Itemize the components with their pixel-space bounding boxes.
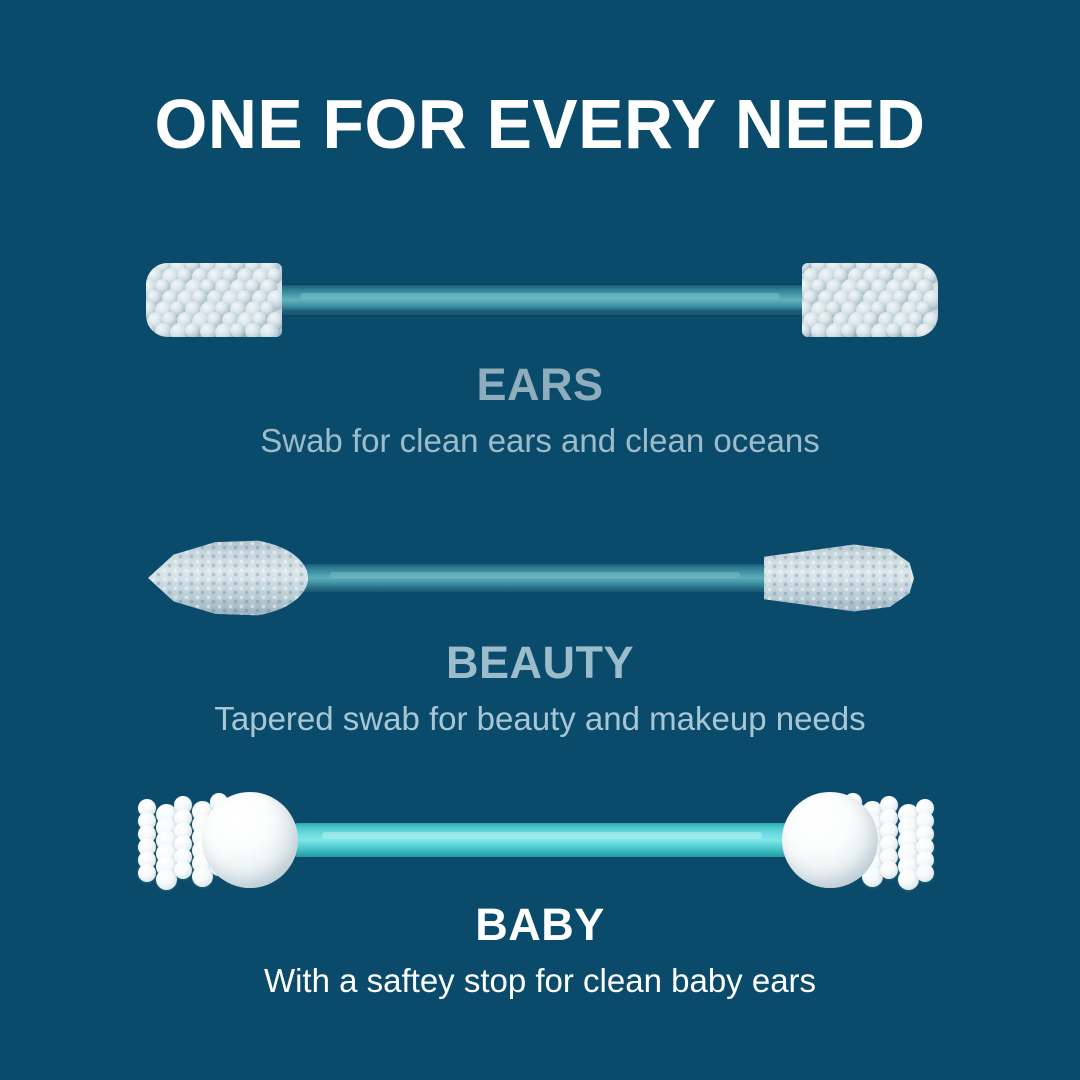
product-label-ears: EARS <box>0 362 1080 407</box>
safety-stop-left-icon <box>202 792 298 888</box>
nub-icon <box>916 323 935 337</box>
swab-illustration-ears <box>0 240 1080 360</box>
product-caption-beauty: Tapered swab for beauty and makeup needs <box>0 701 1080 737</box>
infographic-page: ONE FOR EVERY NEED EARS Swab for clean e… <box>0 0 1080 1080</box>
swab-tip-right-ears <box>802 263 938 337</box>
product-label-baby: BABY <box>0 902 1080 947</box>
swab-stick-ears <box>268 285 814 315</box>
nub-icon <box>841 323 856 337</box>
nub-icon <box>138 864 156 882</box>
product-caption-baby: With a saftey stop for clean baby ears <box>0 963 1080 999</box>
nub-icon <box>174 861 192 879</box>
nub-icon <box>260 323 279 337</box>
swab-stick-highlight-ears <box>300 293 780 299</box>
swab-tip-right-beauty-paddle <box>764 540 914 616</box>
nub-icon <box>185 323 200 337</box>
product-section-baby: BABY With a saftey stop for clean baby e… <box>0 780 1080 999</box>
dimple-texture-icon <box>148 539 308 617</box>
product-section-beauty: BEAUTY Tapered swab for beauty and makeu… <box>0 518 1080 737</box>
product-caption-ears: Swab for clean ears and clean oceans <box>0 423 1080 459</box>
nub-icon <box>886 323 901 337</box>
swab-tip-left-ears <box>146 263 282 337</box>
swab-baby <box>0 780 1080 900</box>
product-label-beauty: BEAUTY <box>0 640 1080 685</box>
swab-ears <box>0 240 1080 360</box>
swab-illustration-baby <box>0 780 1080 900</box>
swab-illustration-beauty <box>0 518 1080 638</box>
swab-stick-baby <box>292 823 790 857</box>
page-title: ONE FOR EVERY NEED <box>16 84 1064 164</box>
swab-stick-highlight-baby <box>322 832 762 839</box>
nub-icon <box>230 323 245 337</box>
nub-icon <box>916 864 934 882</box>
swab-tip-left-beauty-tapered <box>148 539 308 617</box>
swab-stick-highlight-beauty <box>330 572 740 578</box>
nub-texture-icon <box>146 263 282 337</box>
safety-stop-right-icon <box>782 792 878 888</box>
nub-texture-icon <box>802 263 938 337</box>
swab-beauty <box>0 518 1080 638</box>
dimple-texture-icon <box>764 540 914 616</box>
nub-icon <box>880 861 898 879</box>
product-section-ears: EARS Swab for clean ears and clean ocean… <box>0 240 1080 459</box>
swab-stick-beauty <box>300 564 770 592</box>
